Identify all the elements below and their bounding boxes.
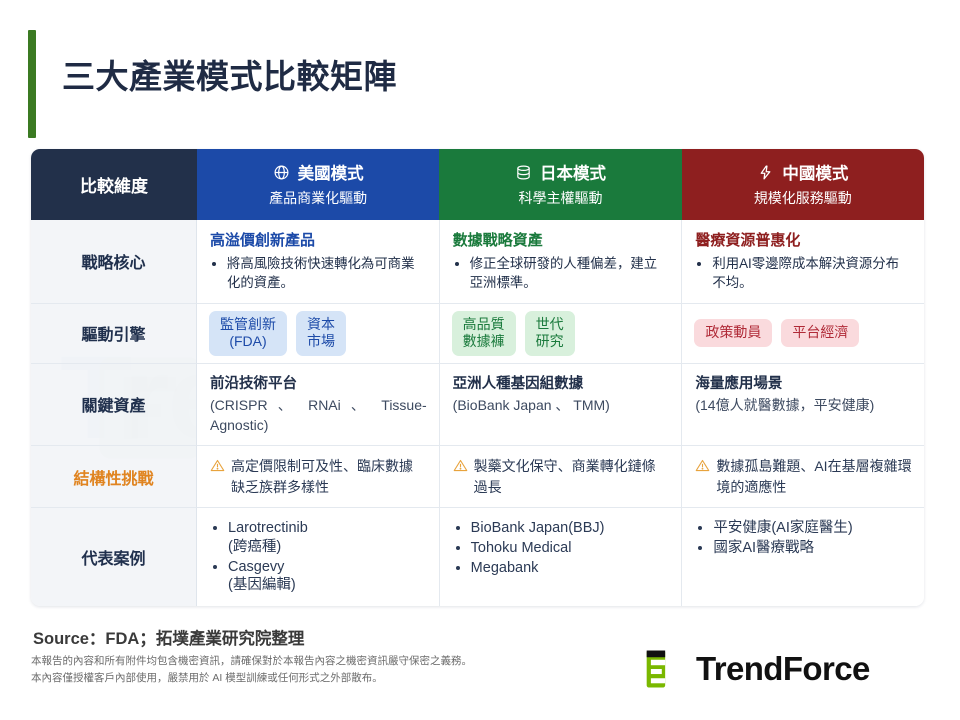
database-icon (515, 164, 532, 181)
challenges-jp-text: 製藥文化保守、商業轉化鏈條過長 (474, 456, 670, 497)
row-label-engine: 驅動引擎 (31, 304, 197, 364)
engine-pill[interactable]: 監管創新 (FDA) (209, 311, 287, 356)
strategy-jp-title: 數據戰略資產 (453, 230, 670, 252)
row-label-challenges: 結構性挑戰 (31, 446, 197, 508)
cell-assets-us: 前沿技術平台 (CRISPR 、 RNAi 、 Tissue-Agnostic) (197, 364, 440, 447)
list-item: Megabank (471, 559, 670, 578)
cell-engine-cn: 政策動員 平台經濟 (682, 304, 924, 364)
cell-challenges-jp: 製藥文化保守、商業轉化鏈條過長 (440, 446, 683, 508)
cell-challenges-us: 高定價限制可及性、臨床數據缺乏族群多樣性 (197, 446, 440, 508)
disclaimer-text: 本報告的內容和所有附件均包含機密資訊，請確保對於本報告內容之機密資訊嚴守保密之義… (31, 653, 472, 688)
source-text: Source：FDA；拓墣產業研究院整理 (33, 625, 304, 649)
engine-pill[interactable]: 平台經濟 (781, 319, 859, 347)
warning-icon (453, 458, 468, 478)
warning-icon (210, 458, 225, 478)
strategy-us-bullet: 將高風險技術快速轉化為可商業化的資產。 (227, 254, 427, 293)
title-accent-bar (28, 30, 36, 138)
assets-cn-detail: (14億人就醫數據，平安健康) (695, 395, 912, 415)
engine-pill[interactable]: 高品質 數據褲 (452, 311, 516, 356)
header-cn-subtitle: 規模化服務驅動 (692, 188, 914, 208)
cell-engine-us: 監管創新 (FDA) 資本 市場 (197, 304, 440, 364)
strategy-cn-bullet: 利用AI零邊際成本解決資源分布不均。 (712, 254, 912, 293)
strategy-jp-bullet: 修正全球研發的人種偏差，建立亞洲標準。 (470, 254, 670, 293)
case-sub: (基因編輯) (228, 576, 427, 595)
header-column-us: 美國模式 產品商業化驅動 (197, 149, 439, 220)
header-column-cn: 中國模式 規模化服務驅動 (682, 149, 924, 220)
table-row-assets: 關鍵資產 前沿技術平台 (CRISPR 、 RNAi 、 Tissue-Agno… (31, 364, 924, 447)
header-jp-name: 日本模式 (540, 160, 606, 184)
assets-us-detail: (CRISPR 、 RNAi 、 Tissue-Agnostic) (210, 395, 427, 436)
strategy-us-title: 高溢價創新產品 (210, 230, 427, 252)
page-title: 三大產業模式比較矩陣 (62, 59, 397, 109)
case-main: Larotrectinib (228, 520, 308, 536)
comparison-matrix-table: 比較維度 美國模式 產品商業化驅動 日本模式 (31, 149, 924, 606)
cell-assets-jp: 亞洲人種基因組數據 (BioBank Japan 、 TMM) (440, 364, 683, 447)
row-label-strategy: 戰略核心 (31, 220, 197, 304)
list-item: 國家AI醫療戰略 (713, 539, 912, 558)
row-label-assets: 關鍵資產 (31, 364, 197, 447)
trendforce-logo: TrendForce (645, 648, 870, 690)
challenges-cn-text: 數據孤島難題、AI在基層複雜環境的適應性 (716, 456, 912, 497)
list-item: Tohoku Medical (471, 539, 670, 558)
case-sub: (跨癌種) (228, 538, 427, 557)
slide-title-block: 三大產業模式比較矩陣 (28, 30, 397, 138)
header-cn-name: 中國模式 (782, 160, 848, 184)
list-item: Casgevy(基因編輯) (228, 558, 427, 596)
lightning-icon (757, 164, 774, 181)
list-item: BioBank Japan(BBJ) (471, 519, 670, 538)
warning-icon (695, 458, 710, 478)
assets-cn-title: 海量應用場景 (695, 374, 912, 395)
table-row-cases: 代表案例 Larotrectinib(跨癌種) Casgevy(基因編輯) Bi… (31, 508, 924, 606)
strategy-cn-title: 醫療資源普惠化 (695, 230, 912, 252)
trendforce-mark-icon (645, 648, 687, 690)
disclaimer-line-2: 本內容僅授權客戶內部使用，嚴禁用於 AI 模型訓練或任何形式之外部散布。 (31, 670, 472, 687)
globe-icon (273, 164, 290, 181)
header-jp-subtitle: 科學主權驅動 (449, 188, 671, 208)
engine-pill[interactable]: 資本 市場 (296, 311, 346, 356)
assets-us-title: 前沿技術平台 (210, 374, 427, 395)
list-item: 平安健康(AI家庭醫生) (713, 519, 912, 538)
cell-strategy-jp: 數據戰略資產 修正全球研發的人種偏差，建立亞洲標準。 (440, 220, 683, 304)
disclaimer-line-1: 本報告的內容和所有附件均包含機密資訊，請確保對於本報告內容之機密資訊嚴守保密之義… (31, 653, 472, 670)
header-dimension-label: 比較維度 (31, 149, 197, 220)
table-row-strategy: 戰略核心 高溢價創新產品 將高風險技術快速轉化為可商業化的資產。 數據戰略資產 … (31, 220, 924, 304)
assets-jp-detail: (BioBank Japan 、 TMM) (453, 395, 670, 415)
cell-strategy-us: 高溢價創新產品 將高風險技術快速轉化為可商業化的資產。 (197, 220, 440, 304)
header-us-name: 美國模式 (298, 160, 364, 184)
header-us-subtitle: 產品商業化驅動 (207, 188, 429, 208)
table-row-challenges: 結構性挑戰 高定價限制可及性、臨床數據缺乏族群多樣性 製藥文化保守、商業轉化鏈條… (31, 446, 924, 508)
cell-assets-cn: 海量應用場景 (14億人就醫數據，平安健康) (682, 364, 924, 447)
engine-pill[interactable]: 世代 研究 (525, 311, 575, 356)
assets-jp-title: 亞洲人種基因組數據 (453, 374, 670, 395)
cell-cases-cn: 平安健康(AI家庭醫生) 國家AI醫療戰略 (682, 508, 924, 606)
cell-cases-us: Larotrectinib(跨癌種) Casgevy(基因編輯) (197, 508, 440, 606)
case-main: Casgevy (228, 559, 284, 575)
table-row-engine: 驅動引擎 監管創新 (FDA) 資本 市場 高品質 數據褲 世代 研究 政策動員… (31, 304, 924, 364)
header-column-jp: 日本模式 科學主權驅動 (439, 149, 681, 220)
list-item: Larotrectinib(跨癌種) (228, 519, 427, 557)
challenges-us-text: 高定價限制可及性、臨床數據缺乏族群多樣性 (231, 456, 427, 497)
cell-cases-jp: BioBank Japan(BBJ) Tohoku Medical Megaba… (440, 508, 683, 606)
table-header-row: 比較維度 美國模式 產品商業化驅動 日本模式 (31, 149, 924, 220)
cell-engine-jp: 高品質 數據褲 世代 研究 (440, 304, 683, 364)
cell-challenges-cn: 數據孤島難題、AI在基層複雜環境的適應性 (682, 446, 924, 508)
row-label-cases: 代表案例 (31, 508, 197, 606)
trendforce-wordmark: TrendForce (696, 650, 870, 688)
cell-strategy-cn: 醫療資源普惠化 利用AI零邊際成本解決資源分布不均。 (682, 220, 924, 304)
engine-pill[interactable]: 政策動員 (694, 319, 772, 347)
